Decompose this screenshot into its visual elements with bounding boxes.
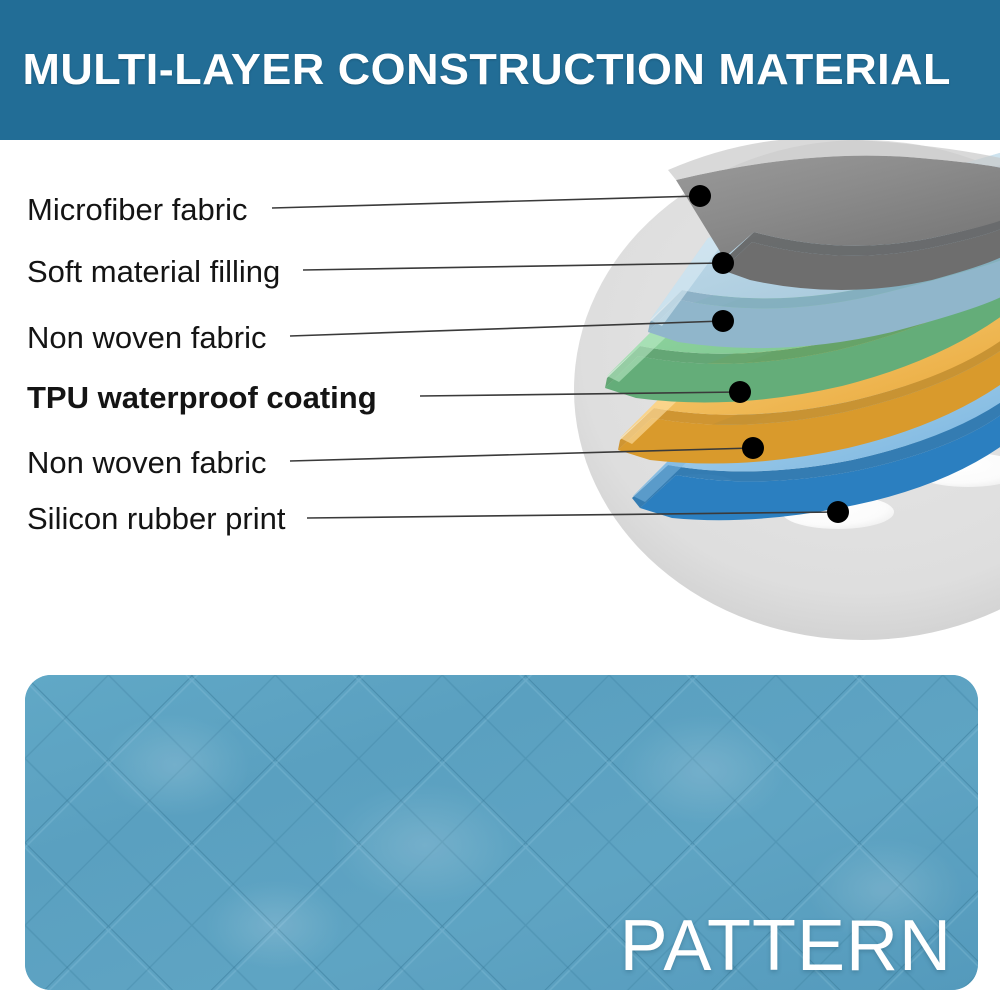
layer-label-soft-material-filling: Soft material filling bbox=[27, 256, 280, 287]
callout-dot-5 bbox=[742, 437, 764, 459]
callout-line-1 bbox=[272, 196, 700, 208]
pattern-caption: PATTERN bbox=[620, 910, 952, 982]
callout-dot-3 bbox=[712, 310, 734, 332]
layer-label-non-woven-fabric-upper: Non woven fabric bbox=[27, 322, 267, 353]
fabric-pattern-panel: PATTERN bbox=[25, 675, 978, 990]
callout-dot-4 bbox=[729, 381, 751, 403]
callout-dot-6 bbox=[827, 501, 849, 523]
page-title: MULTI-LAYER CONSTRUCTION MATERIAL bbox=[0, 45, 951, 95]
layer-diagram: Microfiber fabric Soft material filling … bbox=[0, 140, 1000, 660]
callout-dot-1 bbox=[689, 185, 711, 207]
layer-label-non-woven-fabric-lower: Non woven fabric bbox=[27, 447, 267, 478]
header-banner: MULTI-LAYER CONSTRUCTION MATERIAL bbox=[0, 0, 1000, 140]
layer-label-microfiber-fabric: Microfiber fabric bbox=[27, 194, 248, 225]
infographic-page: MULTI-LAYER CONSTRUCTION MATERIAL bbox=[0, 0, 1000, 1000]
layer-label-tpu-waterproof-coating: TPU waterproof coating bbox=[27, 382, 377, 413]
layer-label-silicon-rubber-print: Silicon rubber print bbox=[27, 503, 285, 534]
callout-dot-2 bbox=[712, 252, 734, 274]
